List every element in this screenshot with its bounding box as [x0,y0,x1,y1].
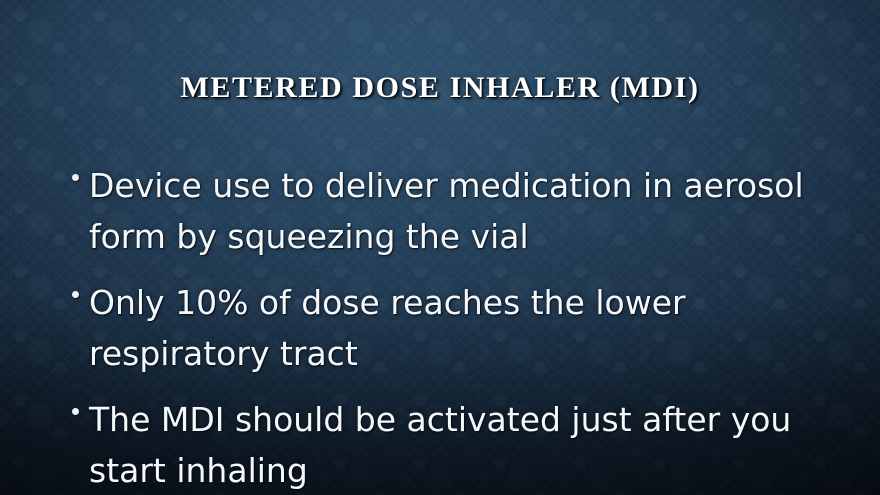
list-item: The MDI should be activated just after y… [66,394,826,495]
list-item: Device use to deliver medication in aero… [66,160,826,262]
bullet-text: The MDI should be activated just after y… [89,400,791,490]
slide-title: METERED DOSE INHALER (MDI) [0,71,880,105]
slide-content: METERED DOSE INHALER (MDI) Device use to… [0,0,880,495]
bullet-text: Device use to deliver medication in aero… [89,166,804,256]
bullet-text: Only 10% of dose reaches the lower respi… [89,283,686,373]
presentation-slide: METERED DOSE INHALER (MDI) Device use to… [0,0,880,495]
list-item: Only 10% of dose reaches the lower respi… [66,277,826,379]
bullet-list: Device use to deliver medication in aero… [66,160,826,495]
